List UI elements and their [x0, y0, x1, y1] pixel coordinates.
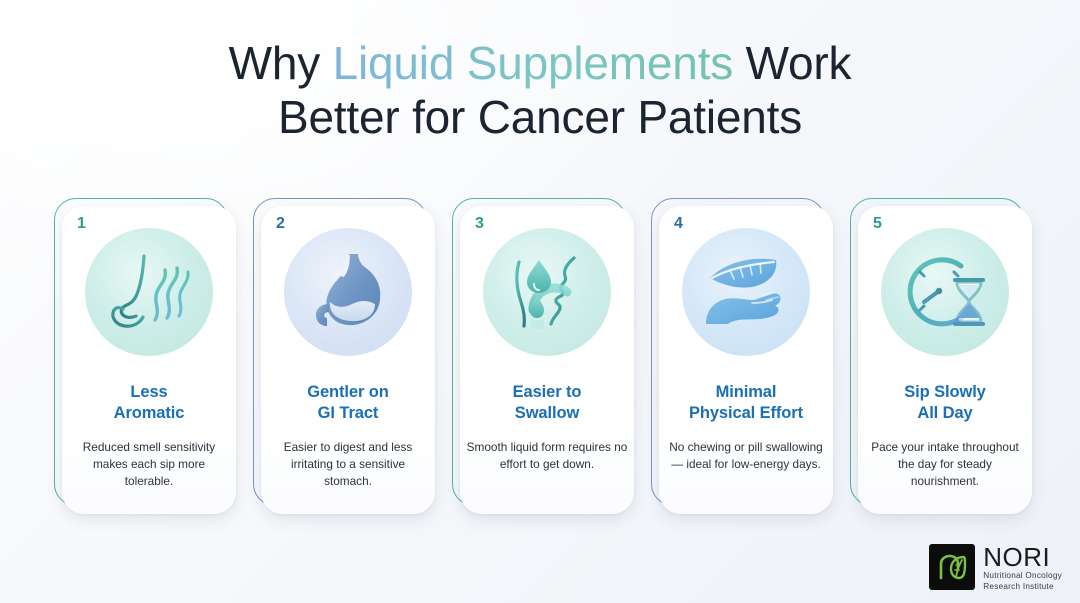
logo-subtitle-line-1: Nutritional Oncology: [983, 572, 1062, 580]
card-description: Easier to digest and less irritating to …: [267, 439, 429, 489]
card-title-line-1: Sip Slowly: [904, 383, 986, 401]
benefit-card-5[interactable]: 5: [850, 198, 1032, 514]
card-description: No chewing or pill swallowing — ideal fo…: [665, 439, 827, 473]
logo-text: NORI Nutritional Oncology Research Insti…: [983, 544, 1062, 591]
clock-hourglass-icon: [899, 246, 991, 338]
page-title: Why Liquid Supplements Work Better for C…: [0, 36, 1080, 145]
card-title-line-2: GI Tract: [318, 404, 379, 422]
card-title-line-1: Minimal: [716, 383, 777, 401]
card-title-line-1: Easier to: [513, 383, 582, 401]
leaf-monogram-icon: [935, 550, 969, 584]
logo-subtitle-line-2: Research Institute: [983, 583, 1062, 591]
benefit-card-1[interactable]: 1: [54, 198, 236, 514]
card-number: 5: [873, 215, 882, 233]
icon-bubble: [284, 228, 412, 356]
icon-bubble: [483, 228, 611, 356]
benefit-card-2[interactable]: 2: [253, 198, 435, 514]
nori-logo[interactable]: NORI Nutritional Oncology Research Insti…: [929, 544, 1062, 591]
card-title: Minimal Physical Effort: [667, 382, 825, 424]
icon-bubble: [85, 228, 213, 356]
logo-name: NORI: [983, 544, 1062, 570]
card-title-line-1: Less: [130, 383, 167, 401]
card-title: Less Aromatic: [70, 382, 228, 424]
card-body: 3: [460, 206, 634, 514]
card-title: Sip Slowly All Day: [866, 382, 1024, 424]
benefit-card-3[interactable]: 3: [452, 198, 634, 514]
card-number: 1: [77, 215, 86, 233]
card-title-line-2: Swallow: [515, 404, 579, 422]
card-body: 5: [858, 206, 1032, 514]
nose-aroma-icon: [103, 246, 195, 338]
card-description: Reduced smell sensitivity makes each sip…: [68, 439, 230, 489]
card-number: 2: [276, 215, 285, 233]
benefit-card-4[interactable]: 4: [651, 198, 833, 514]
card-description: Smooth liquid form requires no effort to…: [466, 439, 628, 473]
icon-bubble: [682, 228, 810, 356]
title-part-after: Work: [733, 37, 851, 89]
title-part-before: Why: [229, 37, 333, 89]
hand-feather-icon: [700, 246, 792, 338]
title-line-2: Better for Cancer Patients: [0, 90, 1080, 144]
benefit-cards-row: 1: [54, 198, 1032, 514]
card-title: Gentler on GI Tract: [269, 382, 427, 424]
card-number: 4: [674, 215, 683, 233]
logo-mark: [929, 544, 975, 590]
card-title-line-2: Aromatic: [114, 404, 185, 422]
card-body: 4: [659, 206, 833, 514]
card-title-line-2: Physical Effort: [689, 404, 803, 422]
card-description: Pace your intake throughout the day for …: [864, 439, 1026, 489]
icon-bubble: [881, 228, 1009, 356]
card-body: 1: [62, 206, 236, 514]
card-title-line-2: All Day: [917, 404, 972, 422]
swallow-droplet-face-icon: [501, 246, 593, 338]
title-accent-text: Liquid Supplements: [333, 37, 733, 89]
card-title: Easier to Swallow: [468, 382, 626, 424]
card-body: 2: [261, 206, 435, 514]
stomach-icon: [302, 246, 394, 338]
card-title-line-1: Gentler on: [307, 383, 389, 401]
title-line-1: Why Liquid Supplements Work: [0, 36, 1080, 90]
card-number: 3: [475, 215, 484, 233]
